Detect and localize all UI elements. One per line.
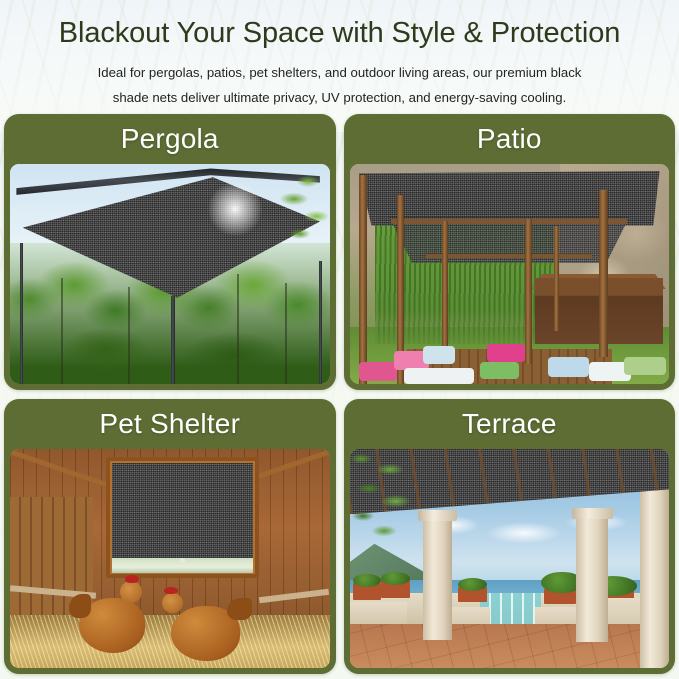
cushion [480,362,518,380]
scene-patio [350,164,670,384]
card-pergola[interactable]: Pergola [4,114,336,390]
cushion [487,344,525,362]
scene-terrace [350,449,670,669]
hen-head [162,593,183,613]
sun-flare [208,182,262,236]
card-patio[interactable]: Patio [344,114,676,390]
planter-flowers [381,572,410,585]
tree-trunk [61,278,63,383]
pergola-crossbeam [391,219,627,224]
page-subtitle-line-1: Ideal for pergolas, patios, pet shelters… [60,61,619,85]
overhanging-branch [266,164,330,261]
stone-column [576,510,608,642]
pergola-post [442,221,448,353]
card-photo-patio [350,164,670,384]
cushion [548,357,590,377]
scene-pet-shelter [10,449,330,669]
cushion [624,357,666,375]
pergola-post [171,296,175,384]
card-photo-terrace [350,449,670,669]
pergola-post [20,243,23,383]
pergola-post [599,190,608,357]
card-label-pergola: Pergola [4,114,336,164]
blind-pull-knob[interactable] [180,558,185,563]
planter-flowers [353,574,382,587]
hen [74,576,157,659]
scene-pergola [10,164,330,384]
seat-mattress [404,368,474,383]
terracotta-floor [350,624,670,668]
page-subtitle: Ideal for pergolas, patios, pet shelters… [26,61,653,110]
tree-trunk [128,287,130,384]
pergola-post [554,226,559,331]
card-photo-pergola [10,164,330,384]
page-title: Blackout Your Space with Style & Protect… [26,14,653,52]
card-label-terrace: Terrace [344,399,676,449]
pergola-post [525,219,532,364]
card-label-pet-shelter: Pet Shelter [4,399,336,449]
card-terrace[interactable]: Terrace [344,399,676,675]
tree-trunk [237,274,239,384]
hen-tail [227,598,251,621]
hen [160,585,246,666]
hen-tail [69,594,91,617]
shade-net-roller-blind [112,463,253,560]
card-photo-pet-shelter [10,449,330,669]
use-case-grid: Pergola Patio [0,114,679,674]
cushion [359,362,397,382]
pergola-post [319,261,322,384]
window-frame [106,457,259,578]
pergola-crossbeam [426,254,592,258]
header: Blackout Your Space with Style & Protect… [0,0,679,114]
column-capital [572,508,614,519]
cushion [423,346,455,364]
card-label-patio: Patio [344,114,676,164]
tree-trunk [285,283,287,384]
page-subtitle-line-2: shade nets deliver ultimate privacy, UV … [60,86,619,110]
hen-head [120,581,142,603]
card-pet-shelter[interactable]: Pet Shelter [4,399,336,675]
pergola-post [359,175,367,384]
olive-tree [350,449,436,550]
